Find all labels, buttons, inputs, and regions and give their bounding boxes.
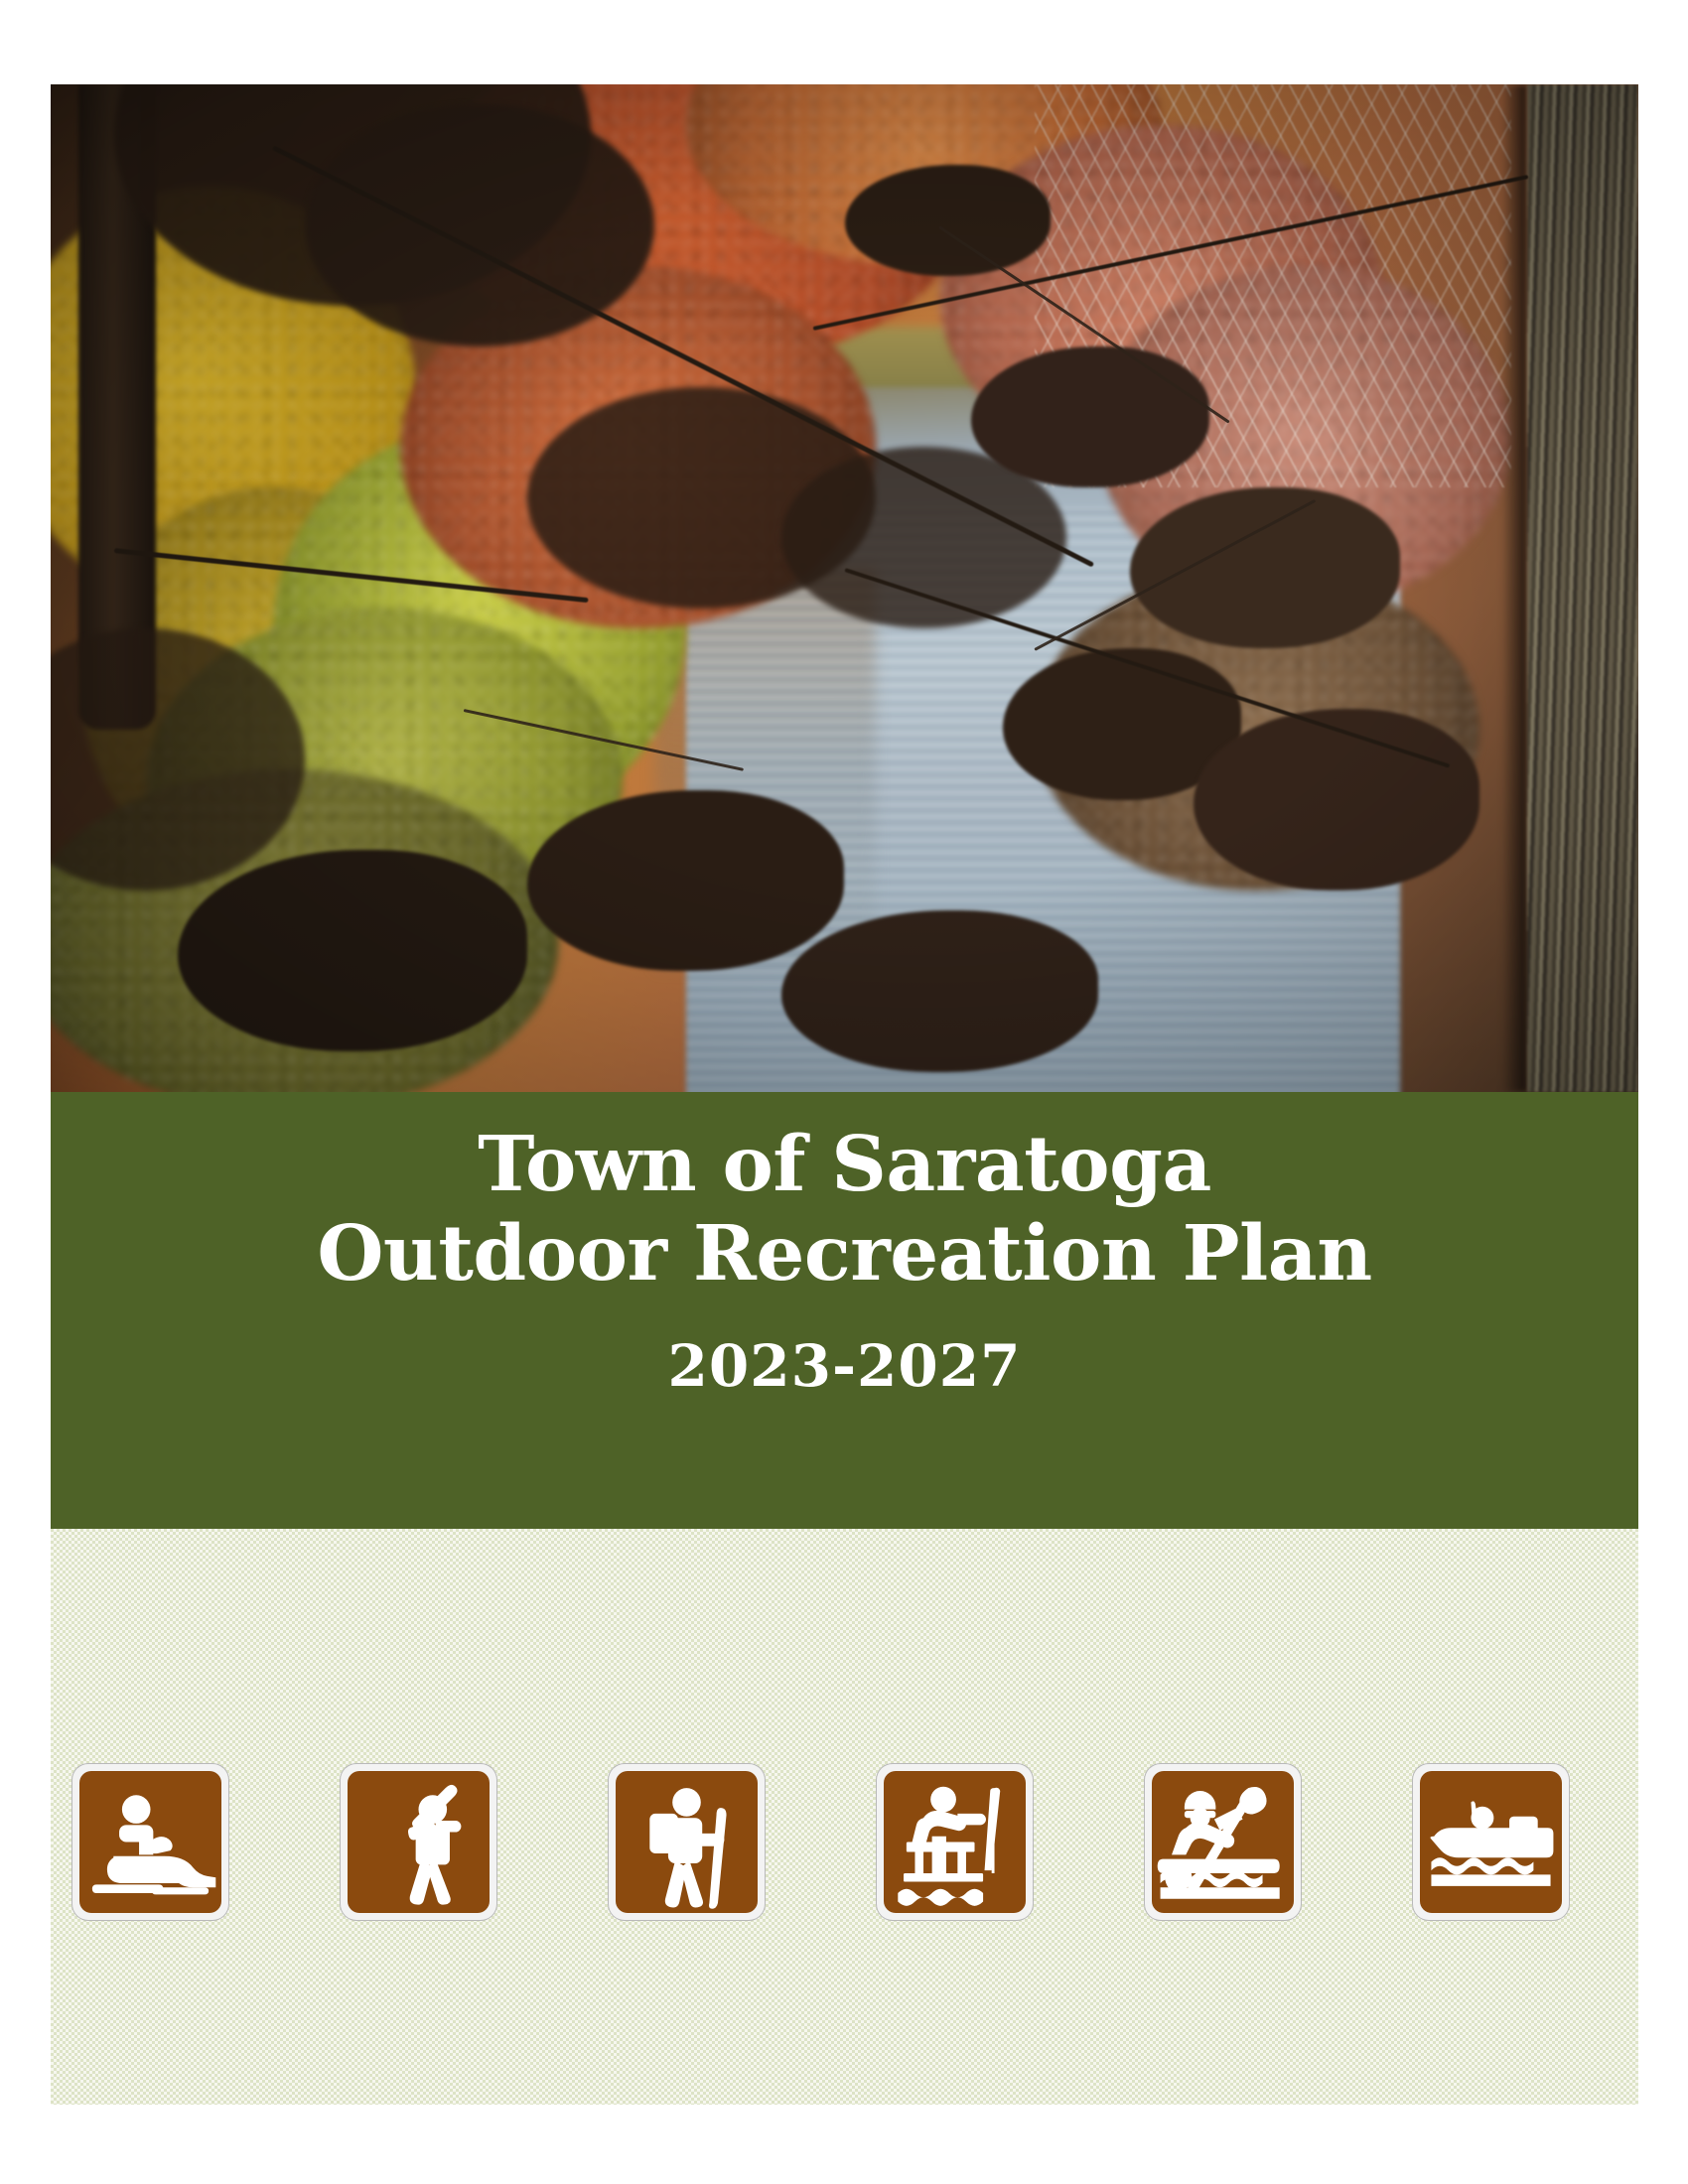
kayaking-icon	[1145, 1764, 1301, 1920]
sign-face	[1420, 1771, 1562, 1913]
sign-face	[79, 1771, 221, 1913]
recreation-icon-row	[51, 1764, 1638, 1920]
photo-background-layer	[51, 84, 1638, 1092]
baseball-icon	[341, 1764, 496, 1920]
hiking-icon	[609, 1764, 765, 1920]
photo-vignette	[51, 84, 1638, 1092]
document-date-range: 2023-2027	[668, 1332, 1022, 1400]
snowmobiling-icon	[72, 1764, 228, 1920]
document-title-line-2: Outdoor Recreation Plan	[317, 1209, 1371, 1298]
document-title-line-1: Town of Saratoga	[478, 1120, 1211, 1209]
sign-face	[884, 1771, 1026, 1913]
sign-face	[1152, 1771, 1294, 1913]
document-cover-page: Town of Saratoga Outdoor Recreation Plan…	[0, 0, 1688, 2184]
cover-photograph	[51, 84, 1638, 1092]
sign-face	[616, 1771, 758, 1913]
recreation-icon-panel	[51, 1529, 1638, 2105]
fishing-icon	[877, 1764, 1033, 1920]
sign-face	[348, 1771, 490, 1913]
title-banner: Town of Saratoga Outdoor Recreation Plan…	[51, 1092, 1638, 1529]
motorboating-icon	[1413, 1764, 1569, 1920]
